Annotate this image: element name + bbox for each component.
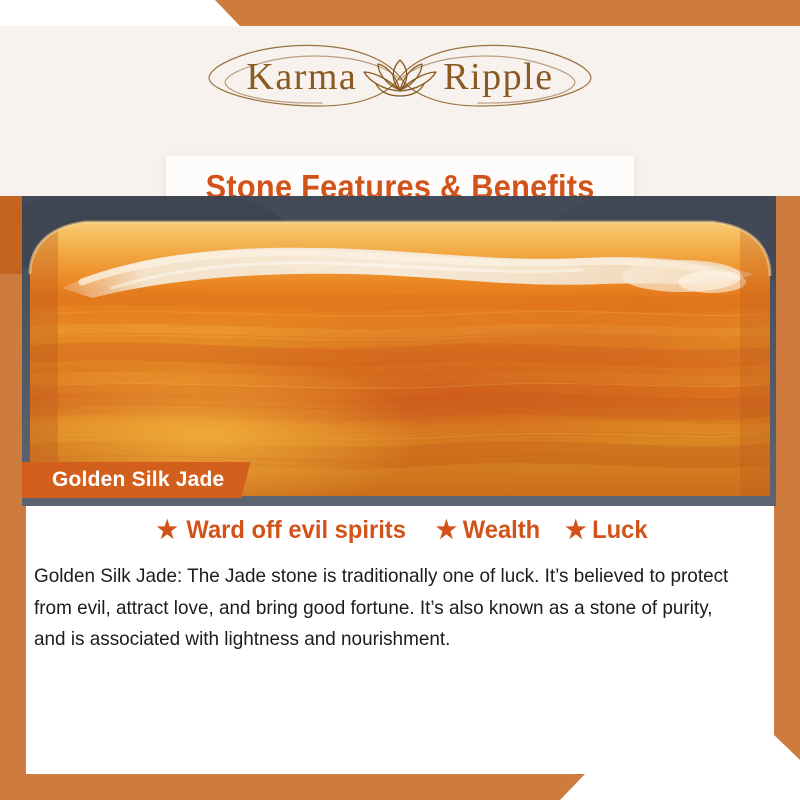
product-infographic: Karma Ripple Stone Features & Benefits (0, 0, 800, 800)
benefits-list: ★ Ward off evil spirits ★ Wealth ★ Luck (26, 506, 774, 545)
stone-name-text: Golden Silk Jade (52, 468, 224, 492)
benefit-item-2: ★ Wealth (436, 516, 540, 545)
benefit-label-2: Wealth (463, 516, 540, 545)
infinity-ribbon-icon (170, 34, 630, 120)
stone-photo: Golden Silk Jade (22, 196, 776, 506)
benefit-label-3: Luck (592, 516, 647, 545)
description-paragraph: Golden Silk Jade: The Jade stone is trad… (34, 561, 744, 656)
content-section: ★ Ward off evil spirits ★ Wealth ★ Luck … (26, 506, 774, 656)
star-icon: ★ (436, 518, 457, 543)
frame-bottom-band (0, 774, 800, 800)
benefit-item-3: ★ Luck (565, 516, 647, 545)
star-icon: ★ (565, 518, 586, 543)
benefit-label-1: Ward off evil spirits (187, 516, 407, 545)
brand-logo: Karma Ripple (170, 34, 630, 120)
jade-stone-photo (22, 196, 776, 506)
benefit-item-1: ★ Ward off evil spirits (157, 516, 406, 545)
header-section: Karma Ripple Stone Features & Benefits (0, 26, 800, 196)
star-icon: ★ (157, 518, 178, 543)
frame-top-band (0, 0, 800, 26)
stone-name-label: Golden Silk Jade (22, 462, 250, 498)
